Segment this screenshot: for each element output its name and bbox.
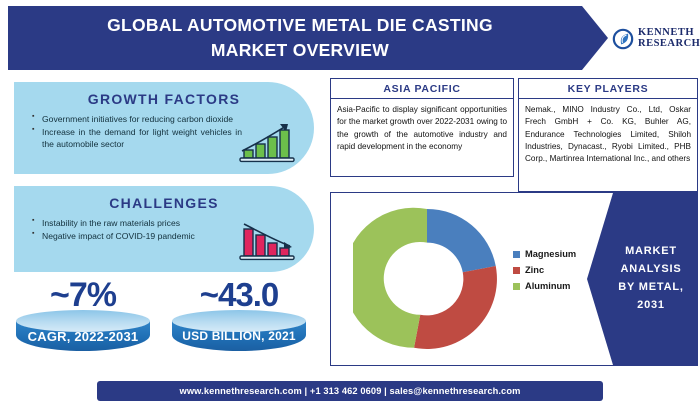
legend-item-zinc: Zinc (513, 265, 576, 275)
footer-bar[interactable]: www.kennethresearch.com | +1 313 462 060… (97, 381, 603, 401)
legend-label: Zinc (525, 265, 544, 275)
market-size-label: USD BILLION, 2021 (172, 329, 306, 343)
challenges-panel: CHALLENGES Instability in the raw materi… (14, 186, 314, 272)
kenneth-research-swirl-icon (612, 28, 634, 50)
growth-factors-list: Government initiatives for reducing carb… (14, 113, 242, 151)
brand-logo-line2: RESEARCH (638, 39, 700, 50)
challenges-list: Instability in the raw materials prices … (14, 217, 242, 242)
list-item: Instability in the raw materials prices (34, 217, 242, 229)
market-analysis-banner-text: MARKET ANALYSIS BY METAL, 2031 (600, 243, 683, 314)
chart-legend: Magnesium Zinc Aluminum (513, 249, 576, 297)
asia-pacific-title: ASIA PACIFIC (383, 83, 460, 95)
asia-pacific-body: Asia-Pacific to display significant oppo… (331, 99, 513, 157)
legend-label: Aluminum (525, 281, 570, 291)
page-title-line2: MARKET OVERVIEW (107, 38, 493, 63)
header: GLOBAL AUTOMOTIVE METAL DIE CASTING MARK… (0, 6, 700, 70)
banner-line2: ANALYSIS (618, 261, 683, 279)
legend-item-aluminum: Aluminum (513, 281, 576, 291)
legend-label: Magnesium (525, 249, 576, 259)
market-analysis-banner: MARKET ANALYSIS BY METAL, 2031 (587, 193, 697, 365)
asia-pacific-panel: ASIA PACIFIC Asia-Pacific to display sig… (330, 78, 514, 177)
header-banner: GLOBAL AUTOMOTIVE METAL DIE CASTING MARK… (8, 6, 608, 70)
asia-pacific-header: ASIA PACIFIC (331, 79, 513, 99)
banner-line1: MARKET (618, 243, 683, 261)
asia-pacific-text: Asia-Pacific to display significant oppo… (337, 104, 507, 153)
banner-line3: BY METAL, (618, 279, 683, 297)
list-item: Increase in the demand for light weight … (34, 126, 242, 150)
growth-factors-title: GROWTH FACTORS (14, 82, 314, 107)
key-players-header: KEY PLAYERS (519, 79, 697, 99)
market-size-value: ~43.0 (168, 278, 310, 311)
donut-slice-magnesium (427, 209, 496, 272)
rising-bar-chart-icon (236, 118, 298, 164)
donut-slice-zinc (414, 266, 497, 349)
infographic-page: GLOBAL AUTOMOTIVE METAL DIE CASTING MARK… (0, 0, 700, 412)
banner-line4: 2031 (618, 297, 683, 315)
key-players-text: Nemak., MINO Industry Co., Ltd, Oskar Fr… (525, 104, 691, 165)
key-players-title: KEY PLAYERS (568, 83, 649, 95)
key-players-body: Nemak., MINO Industry Co., Ltd, Oskar Fr… (519, 99, 697, 169)
donut-slice-aluminum (353, 208, 427, 348)
list-item: Negative impact of COVID-19 pandemic (34, 230, 242, 242)
footer-contact-text: www.kennethresearch.com | +1 313 462 060… (180, 386, 521, 396)
market-size-badge: ~43.0 USD BILLION, 2021 (168, 280, 310, 364)
challenges-title: CHALLENGES (14, 186, 314, 211)
key-players-panel: KEY PLAYERS Nemak., MINO Industry Co., L… (518, 78, 698, 192)
page-title: GLOBAL AUTOMOTIVE METAL DIE CASTING MARK… (89, 13, 527, 64)
cagr-badge: ~7% CAGR, 2022-2031 (12, 280, 154, 364)
cagr-value: ~7% (12, 278, 154, 312)
cagr-cylinder: CAGR, 2022-2031 (16, 310, 150, 358)
market-analysis-chart-card: Magnesium Zinc Aluminum MARKET ANALYSIS … (330, 192, 698, 366)
metal-share-donut-chart (353, 205, 501, 353)
legend-swatch-magnesium (513, 251, 520, 258)
cagr-label: CAGR, 2022-2031 (16, 329, 150, 344)
list-item: Government initiatives for reducing carb… (34, 113, 242, 125)
falling-bar-chart-icon (236, 216, 298, 262)
market-size-cylinder: USD BILLION, 2021 (172, 310, 306, 358)
growth-factors-panel: GROWTH FACTORS Government initiatives fo… (14, 82, 314, 174)
brand-logo-text: KENNETH RESEARCH (638, 28, 700, 50)
legend-item-magnesium: Magnesium (513, 249, 576, 259)
page-title-line1: GLOBAL AUTOMOTIVE METAL DIE CASTING (107, 13, 493, 38)
brand-logo: KENNETH RESEARCH (612, 22, 700, 56)
legend-swatch-zinc (513, 267, 520, 274)
legend-swatch-aluminum (513, 283, 520, 290)
